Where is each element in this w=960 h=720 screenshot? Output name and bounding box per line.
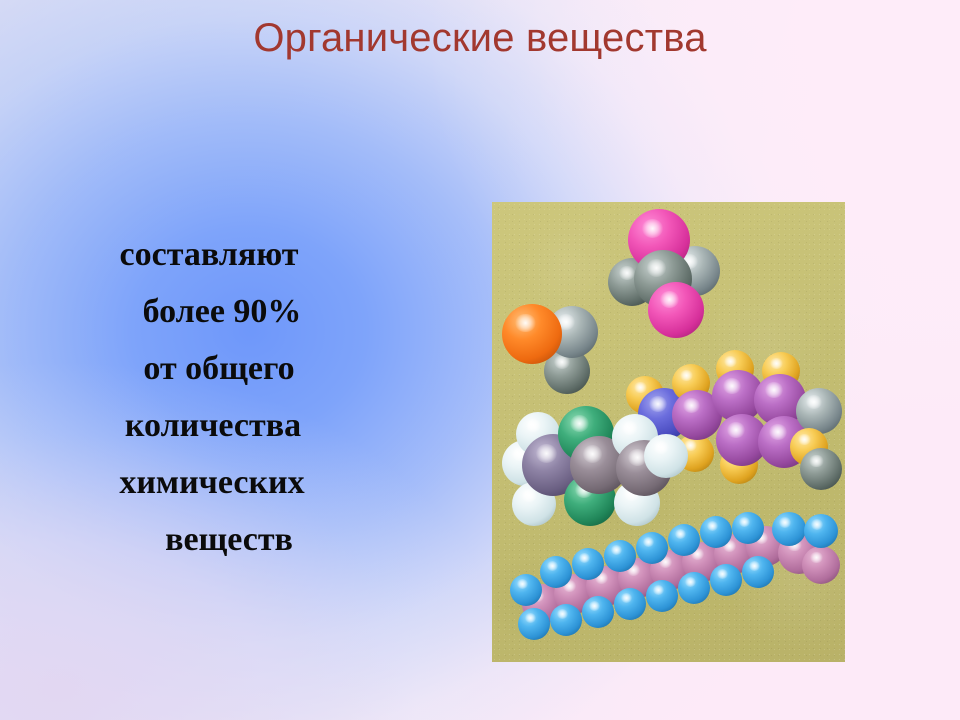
body-line-2: более 90%	[30, 283, 400, 340]
body-line-1: составляют	[30, 226, 400, 283]
molecules-image	[492, 202, 845, 662]
hydrocarbon-chain-molecule	[510, 512, 840, 652]
body-line-6: веществ	[30, 511, 400, 568]
body-line-4: количества	[30, 397, 400, 454]
magenta-gray-molecule	[604, 208, 754, 338]
body-line-3: от общего	[30, 340, 400, 397]
slide-canvas: Органические вещества составляют более 9…	[0, 0, 960, 720]
body-text-block: составляют более 90% от общего количеств…	[30, 226, 400, 568]
slide-title: Органические вещества	[0, 16, 960, 61]
body-line-5: химических	[30, 454, 400, 511]
orange-gray-molecule	[498, 298, 618, 408]
